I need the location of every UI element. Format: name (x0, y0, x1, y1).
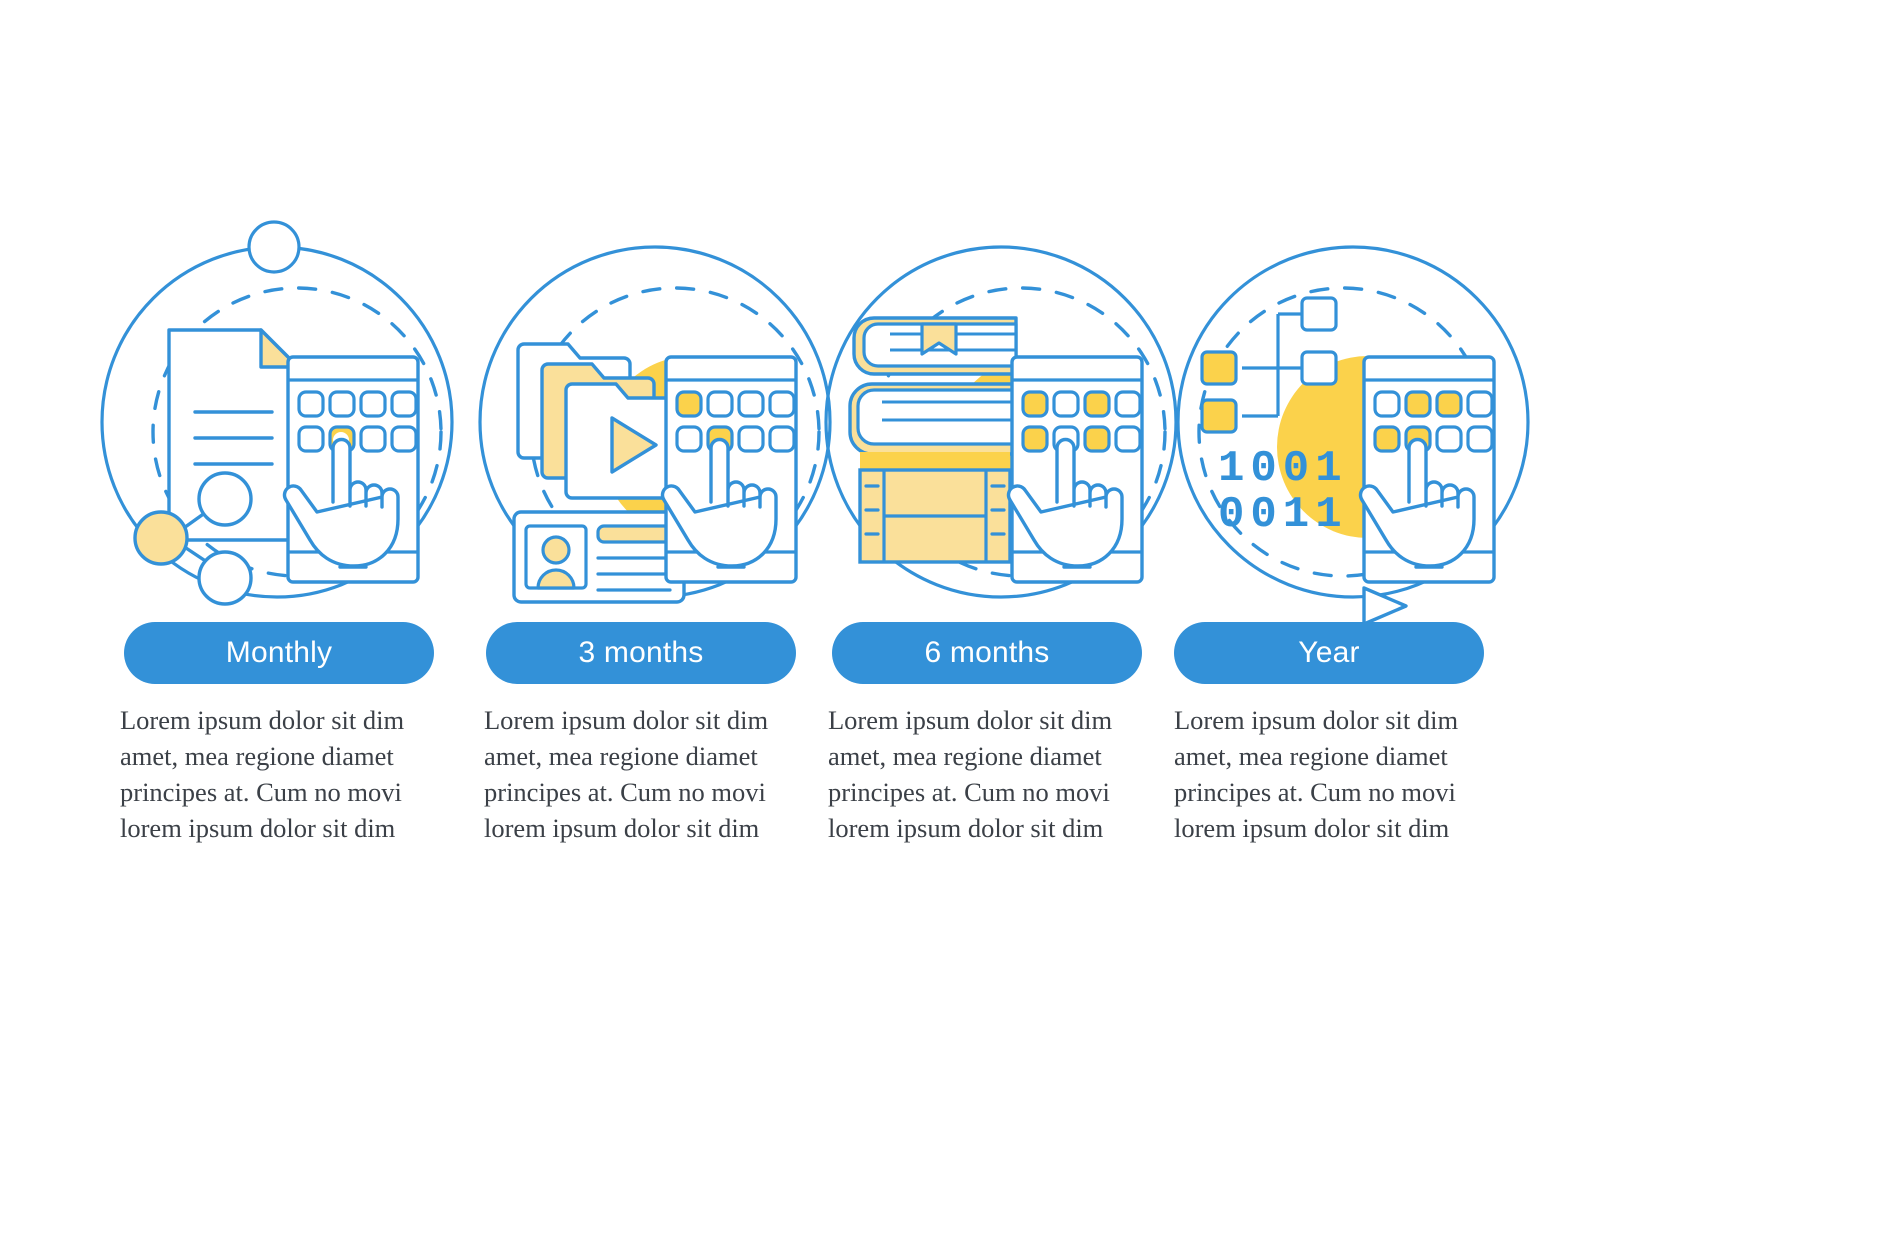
step-label-pill-six-months[interactable]: 6 months (832, 622, 1142, 684)
step-label-pill-monthly[interactable]: Monthly (124, 622, 434, 684)
step-description-three-months: Lorem ipsum dolor sit dim amet, mea regi… (484, 702, 784, 846)
step-description-six-months: Lorem ipsum dolor sit dim amet, mea regi… (828, 702, 1128, 846)
smartphone-touch-shape (284, 357, 418, 582)
document-sharing-icon (92, 240, 532, 660)
timeline-step-year[interactable]: 1001 0011 (1168, 240, 1608, 1000)
smartphone-touch-shape (662, 357, 796, 582)
icon-stage-year: 1001 0011 (1168, 240, 1608, 660)
step-description-year: Lorem ipsum dolor sit dim amet, mea regi… (1174, 702, 1474, 846)
binary-row-1: 1001 (1218, 444, 1348, 494)
smartphone-touch-shape (1008, 357, 1142, 582)
film-strip-shape (860, 452, 1010, 562)
book-stack-shape (850, 318, 1022, 454)
binary-code-text: 1001 0011 (1218, 444, 1348, 540)
step-label-pill-year[interactable]: Year (1174, 622, 1484, 684)
contact-card-shape (514, 512, 684, 602)
binary-data-icon: 1001 0011 (1168, 240, 1608, 660)
timeline-step-monthly[interactable]: Monthly Lorem ipsum dolor sit dim amet, … (92, 240, 532, 1000)
icon-stage-monthly (92, 240, 532, 660)
timeline-steps-row: Monthly Lorem ipsum dolor sit dim amet, … (0, 0, 1887, 1240)
binary-row-2: 0011 (1218, 490, 1348, 540)
smartphone-touch-shape (1360, 357, 1494, 582)
step-description-monthly: Lorem ipsum dolor sit dim amet, mea regi… (120, 702, 420, 846)
timeline-start-node (249, 222, 299, 272)
step-label-pill-three-months[interactable]: 3 months (486, 622, 796, 684)
infographic-canvas: Monthly Lorem ipsum dolor sit dim amet, … (0, 0, 1887, 1240)
